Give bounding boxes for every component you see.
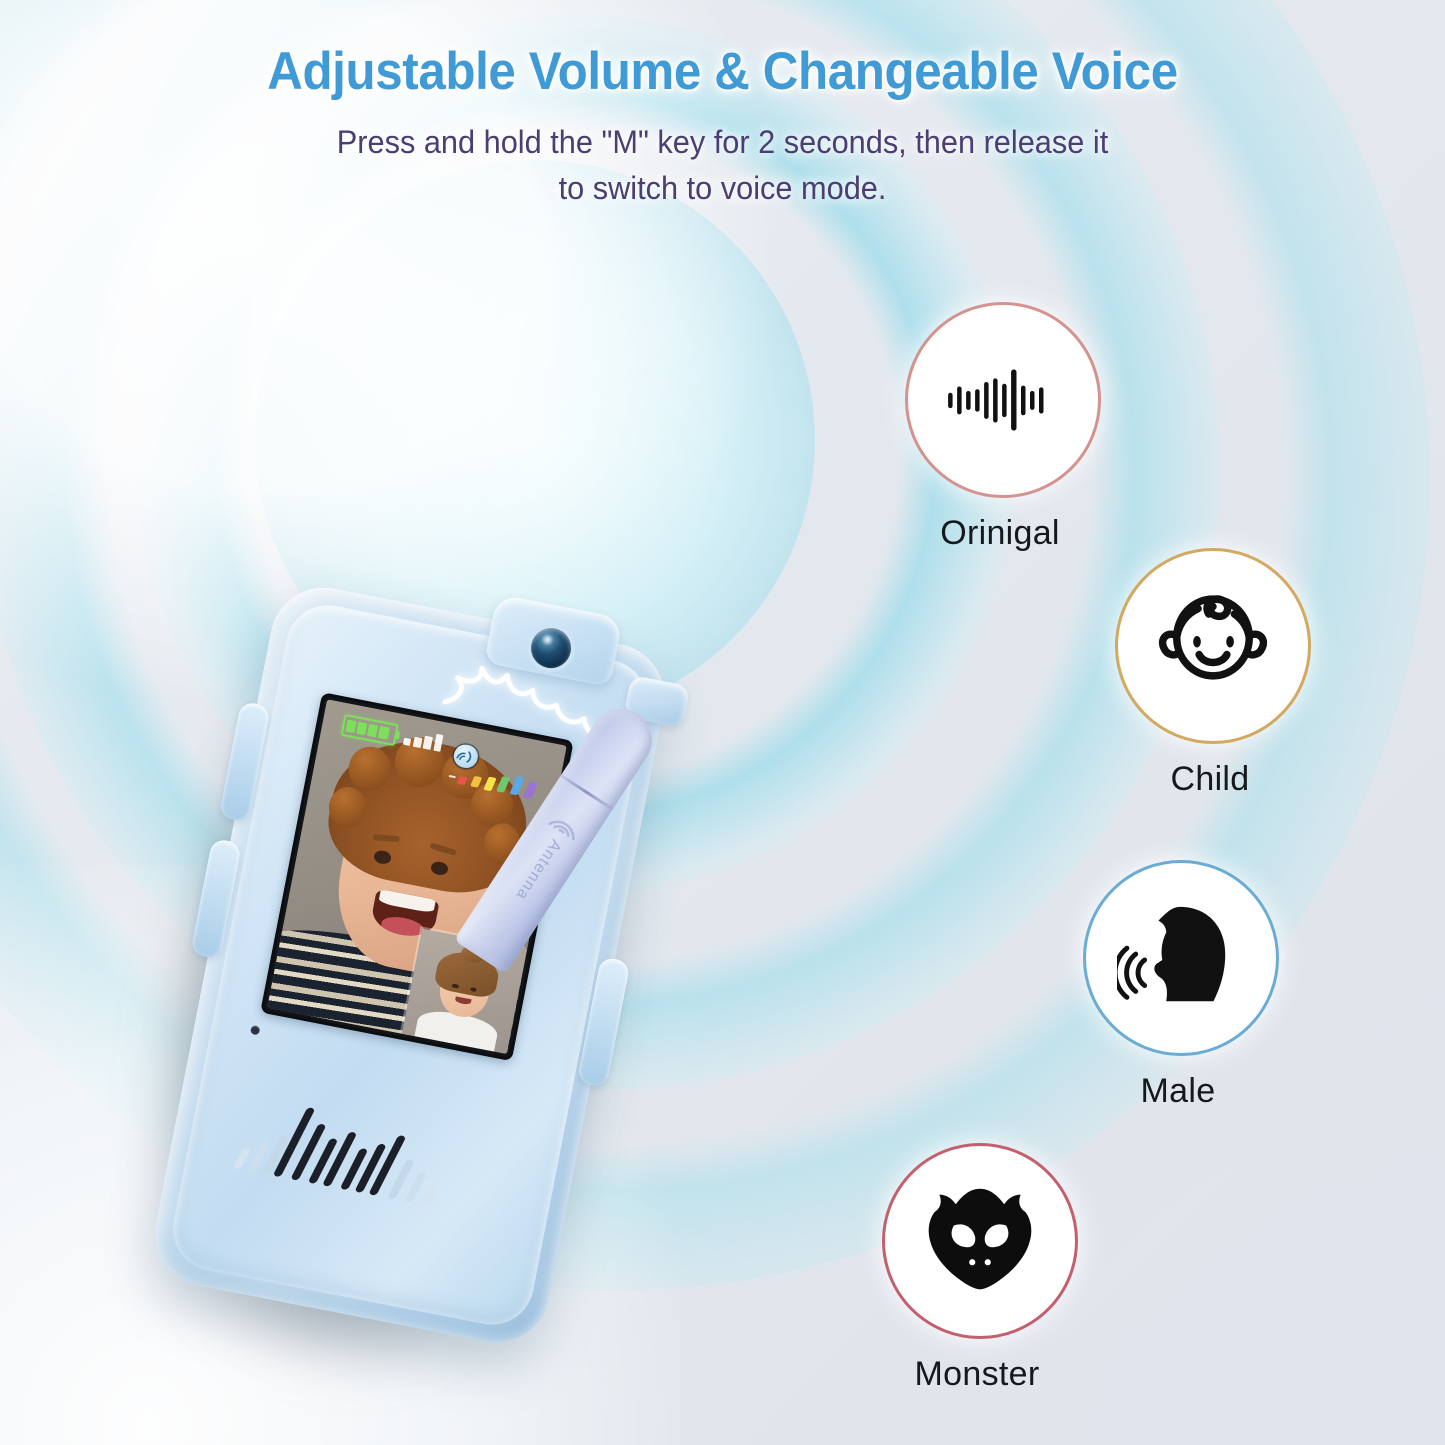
voice-option-label: Child (1115, 760, 1305, 799)
voice-option-original[interactable]: Orinigal (905, 302, 1095, 553)
voice-option-child[interactable]: Child (1115, 548, 1305, 799)
subtitle-line-2: to switch to voice mode. (29, 166, 1416, 211)
baby-face-icon (1149, 582, 1277, 710)
voice-option-label: Orinigal (905, 514, 1095, 553)
speaking-head-icon (1117, 899, 1245, 1017)
monster-mask-icon (917, 1183, 1043, 1299)
voice-option-male[interactable]: Male (1083, 860, 1273, 1111)
voice-option-circle (905, 302, 1101, 498)
voice-option-circle (1115, 548, 1311, 744)
voice-option-label: Male (1083, 1072, 1273, 1111)
voice-option-monster[interactable]: Monster (882, 1143, 1072, 1394)
voice-option-label: Monster (882, 1355, 1072, 1394)
voice-options-list: Orinigal Child (0, 0, 1445, 1445)
page-title: Adjustable Volume & Changeable Voice (51, 44, 1395, 100)
voice-option-circle (1083, 860, 1279, 1056)
header-block: Adjustable Volume & Changeable Voice Pre… (0, 44, 1445, 211)
product-feature-banner: Adjustable Volume & Changeable Voice Pre… (0, 0, 1445, 1445)
subtitle-line-1: Press and hold the "M" key for 2 seconds… (29, 120, 1416, 165)
voice-option-circle (882, 1143, 1078, 1339)
waveform-icon (944, 364, 1062, 436)
page-subtitle: Press and hold the "M" key for 2 seconds… (29, 120, 1416, 211)
